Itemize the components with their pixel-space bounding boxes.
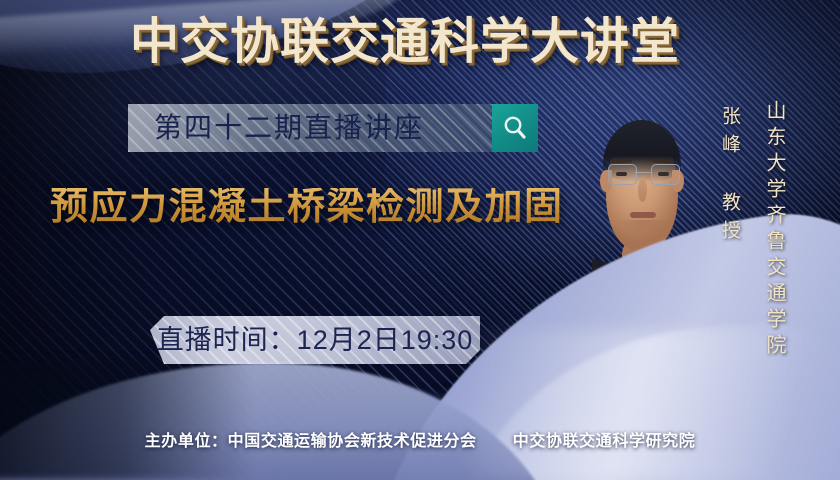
speaker-affiliation: 山东大学齐鲁交通学院 xyxy=(760,100,789,360)
co-organizer-label: 中交协联交通科学研究院 xyxy=(513,433,696,450)
organizer-label: 主办单位：中国交通运输协会新技术促进分会 xyxy=(145,433,477,450)
session-banner: 第四十二期直播讲座 xyxy=(128,104,538,152)
search-button[interactable] xyxy=(492,104,538,152)
broadcast-time-banner: 直播时间：12月2日19:30 xyxy=(150,316,480,364)
portrait-chin-shadow xyxy=(618,220,668,238)
portrait-mouth xyxy=(630,212,656,218)
footer: 主办单位：中国交通运输协会新技术促进分会 中交协联交通科学研究院 xyxy=(0,427,840,451)
search-icon xyxy=(503,115,527,141)
speaker-name: 张峰 教授 xyxy=(716,106,743,248)
broadcast-time-label: 直播时间：12月2日19:30 xyxy=(150,316,480,364)
glasses-icon xyxy=(604,164,682,186)
lecture-topic-headline: 预应力混凝土桥梁检测及加固 xyxy=(50,188,564,226)
livestream-poster: 中交协联交通科学大讲堂 第四十二期直播讲座 预应力混凝土桥梁检测及加固 直播时间… xyxy=(0,0,840,480)
page-title: 中交协联交通科学大讲堂 xyxy=(130,18,680,67)
session-label: 第四十二期直播讲座 xyxy=(154,104,424,152)
speaker-portrait xyxy=(548,108,734,408)
